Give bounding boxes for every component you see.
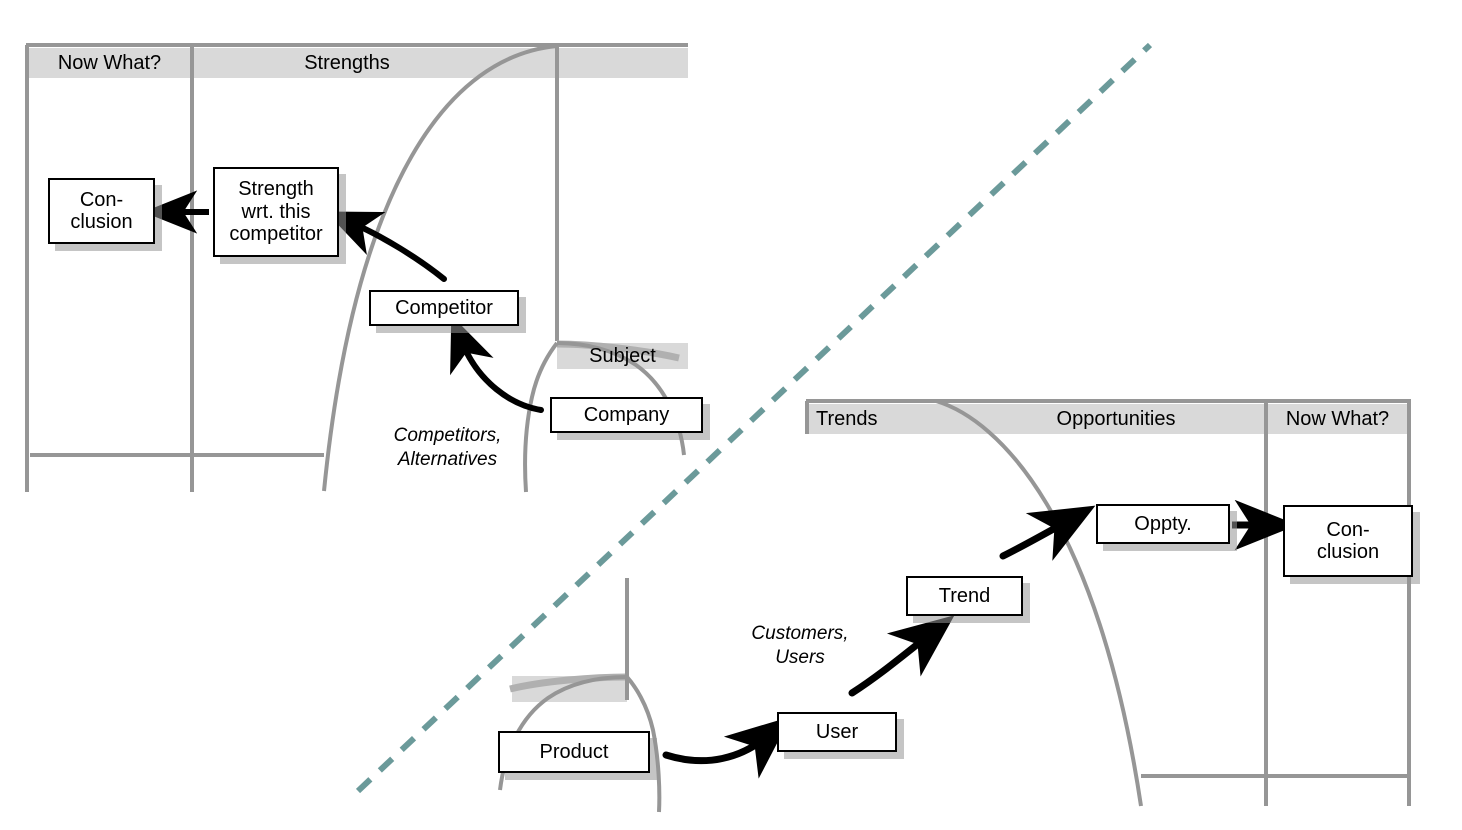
node-company[interactable]: Company (550, 397, 703, 433)
node-competitor[interactable]: Competitor (369, 290, 519, 326)
node-trend[interactable]: Trend (906, 576, 1023, 616)
lower-header-now-what: Now What? (1266, 408, 1409, 431)
diagram-canvas: Now What? Strengths Subject Con- clusion… (0, 0, 1462, 830)
node-product[interactable]: Product (498, 731, 650, 773)
node-user[interactable]: User (777, 712, 897, 752)
node-conclusion-right[interactable]: Con- clusion (1283, 505, 1413, 577)
product-region (500, 578, 659, 812)
arrow-product-to-user (666, 738, 765, 761)
lower-header-trends: Trends (816, 408, 966, 431)
lower-header-opportunities: Opportunities (968, 408, 1264, 431)
subject-band-label: Subject (557, 345, 688, 368)
node-conclusion-left[interactable]: Con- clusion (48, 178, 155, 244)
node-strength[interactable]: Strength wrt. this competitor (213, 167, 339, 257)
node-oppty[interactable]: Oppty. (1096, 504, 1230, 544)
upper-header-strengths: Strengths (192, 52, 502, 75)
arrow-trend-to-oppty (1003, 522, 1066, 556)
annotation-customers-users: Customers, Users (720, 622, 880, 670)
arrow-company-to-competitor (462, 342, 541, 410)
upper-header-now-what: Now What? (27, 52, 192, 75)
annotation-competitors-alternatives: Competitors, Alternatives (360, 424, 535, 472)
